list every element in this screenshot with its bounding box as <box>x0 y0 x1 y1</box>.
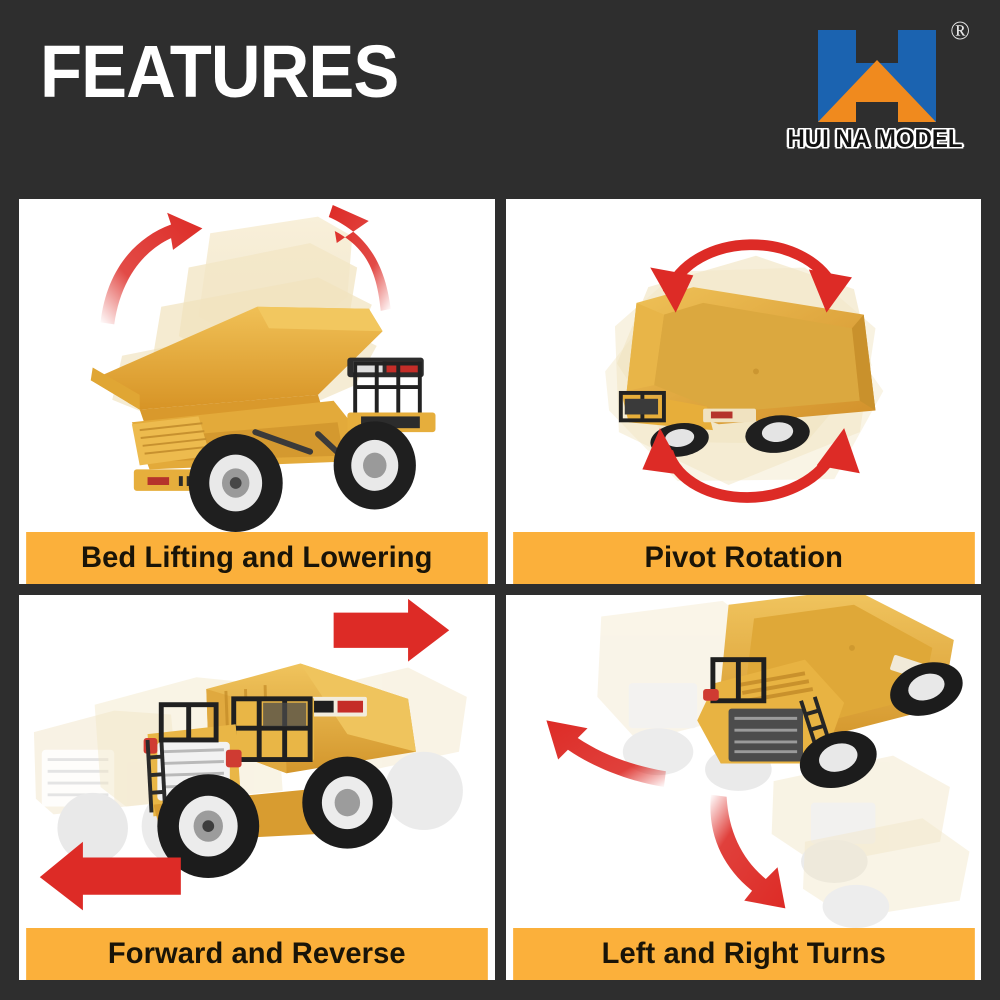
feature-panel-left-right-turns: Left and Right Turns <box>506 595 982 980</box>
feature-panel-forward-reverse: Forward and Reverse <box>19 595 495 980</box>
arrow-curved-pair-up-icon <box>19 199 495 532</box>
arrow-straight-pair-icon <box>19 595 495 928</box>
features-grid: Bed Lifting and Lowering <box>19 199 981 980</box>
brand-name: HUI NA MODEL <box>784 124 966 154</box>
feature-panel-bed-lifting: Bed Lifting and Lowering <box>19 199 495 584</box>
feature-image-forward-reverse <box>19 595 495 928</box>
registered-trademark-icon: ® <box>950 18 970 44</box>
arrow-curved-diverging-icon <box>506 595 982 928</box>
page-title: FEATURES <box>40 28 398 116</box>
header-bar: FEATURES ® HUI NA MODEL <box>0 0 1000 190</box>
brand-logo: ® HUI NA MODEL <box>780 22 970 162</box>
panel-caption-left-right-turns: Left and Right Turns <box>513 928 974 980</box>
feature-infographic: FEATURES ® HUI NA MODEL <box>0 0 1000 1000</box>
huina-h-mark-icon <box>818 30 936 122</box>
panel-caption-bed-lifting: Bed Lifting and Lowering <box>26 532 487 584</box>
feature-panel-pivot-rotation: Pivot Rotation <box>506 199 982 584</box>
feature-image-bed-lifting <box>19 199 495 532</box>
arrow-circular-rotation-icon <box>506 199 982 532</box>
panel-caption-pivot-rotation: Pivot Rotation <box>513 532 974 584</box>
feature-image-left-right-turns <box>506 595 982 928</box>
feature-image-pivot-rotation <box>506 199 982 532</box>
panel-caption-forward-reverse: Forward and Reverse <box>26 928 487 980</box>
